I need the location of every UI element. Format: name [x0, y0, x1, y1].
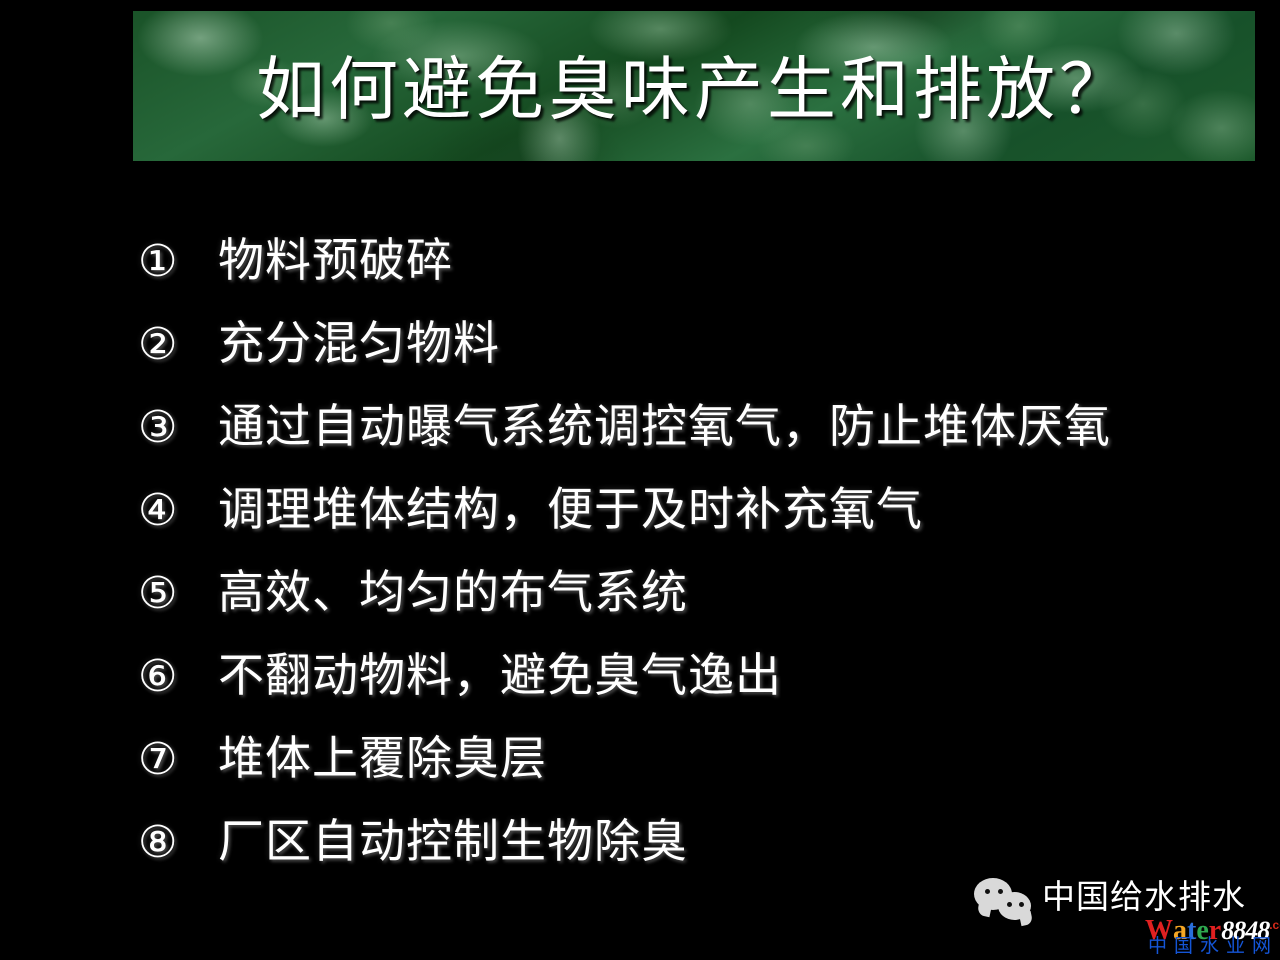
list-item: ① 物料预破碎	[138, 232, 1238, 315]
wechat-front-dot-right	[1019, 902, 1024, 907]
list-item: ③ 通过自动曝气系统调控氧气，防止堆体厌氧	[138, 398, 1238, 481]
list-item: ⑥ 不翻动物料，避免臭气逸出	[138, 647, 1238, 730]
list-item-marker: ⑧	[138, 815, 218, 871]
list-item: ⑦ 堆体上覆除臭层	[138, 730, 1238, 813]
list-item-marker: ③	[138, 400, 218, 456]
watermark-subtitle: 中国水业网	[1148, 936, 1278, 958]
numbered-list: ① 物料预破碎 ② 充分混匀物料 ③ 通过自动曝气系统调控氧气，防止堆体厌氧 ④…	[138, 232, 1238, 896]
list-item-marker: ①	[138, 234, 218, 290]
page-title: 如何避免臭味产生和排放？	[133, 50, 1255, 130]
list-item: ④ 调理堆体结构，便于及时补充氧气	[138, 481, 1238, 564]
list-item-label: 充分混匀物料	[218, 315, 1238, 371]
watermark: 中国给水排水 Water8848.com 中国水业网	[972, 874, 1272, 956]
list-item-label: 调理堆体结构，便于及时补充氧气	[218, 481, 1238, 537]
list-item: ② 充分混匀物料	[138, 315, 1238, 398]
wechat-icon	[974, 878, 1040, 924]
list-item-label: 高效、均匀的布气系统	[218, 564, 1238, 620]
wechat-bubble-back-tail	[977, 901, 993, 917]
list-item: ⑤ 高效、均匀的布气系统	[138, 564, 1238, 647]
list-item-label: 物料预破碎	[218, 232, 1238, 288]
list-item-marker: ④	[138, 483, 218, 539]
list-item-marker: ⑤	[138, 566, 218, 622]
list-item-label: 不翻动物料，避免臭气逸出	[218, 647, 1238, 703]
wechat-front-dot-left	[1007, 902, 1012, 907]
list-item-marker: ②	[138, 317, 218, 373]
slide-canvas: 如何避免臭味产生和排放？ ① 物料预破碎 ② 充分混匀物料 ③ 通过自动曝气系统…	[0, 0, 1280, 960]
wechat-back-dot-left	[985, 889, 990, 894]
list-item-label: 通过自动曝气系统调控氧气，防止堆体厌氧	[218, 398, 1238, 454]
list-item-marker: ⑥	[138, 649, 218, 705]
wechat-bubble-front-tail	[1019, 911, 1033, 926]
list-item-label: 厂区自动控制生物除臭	[218, 813, 1238, 869]
title-banner: 如何避免臭味产生和排放？	[133, 11, 1255, 161]
wechat-back-dot-right	[998, 889, 1003, 894]
list-item-label: 堆体上覆除臭层	[218, 730, 1238, 786]
list-item-marker: ⑦	[138, 732, 218, 788]
